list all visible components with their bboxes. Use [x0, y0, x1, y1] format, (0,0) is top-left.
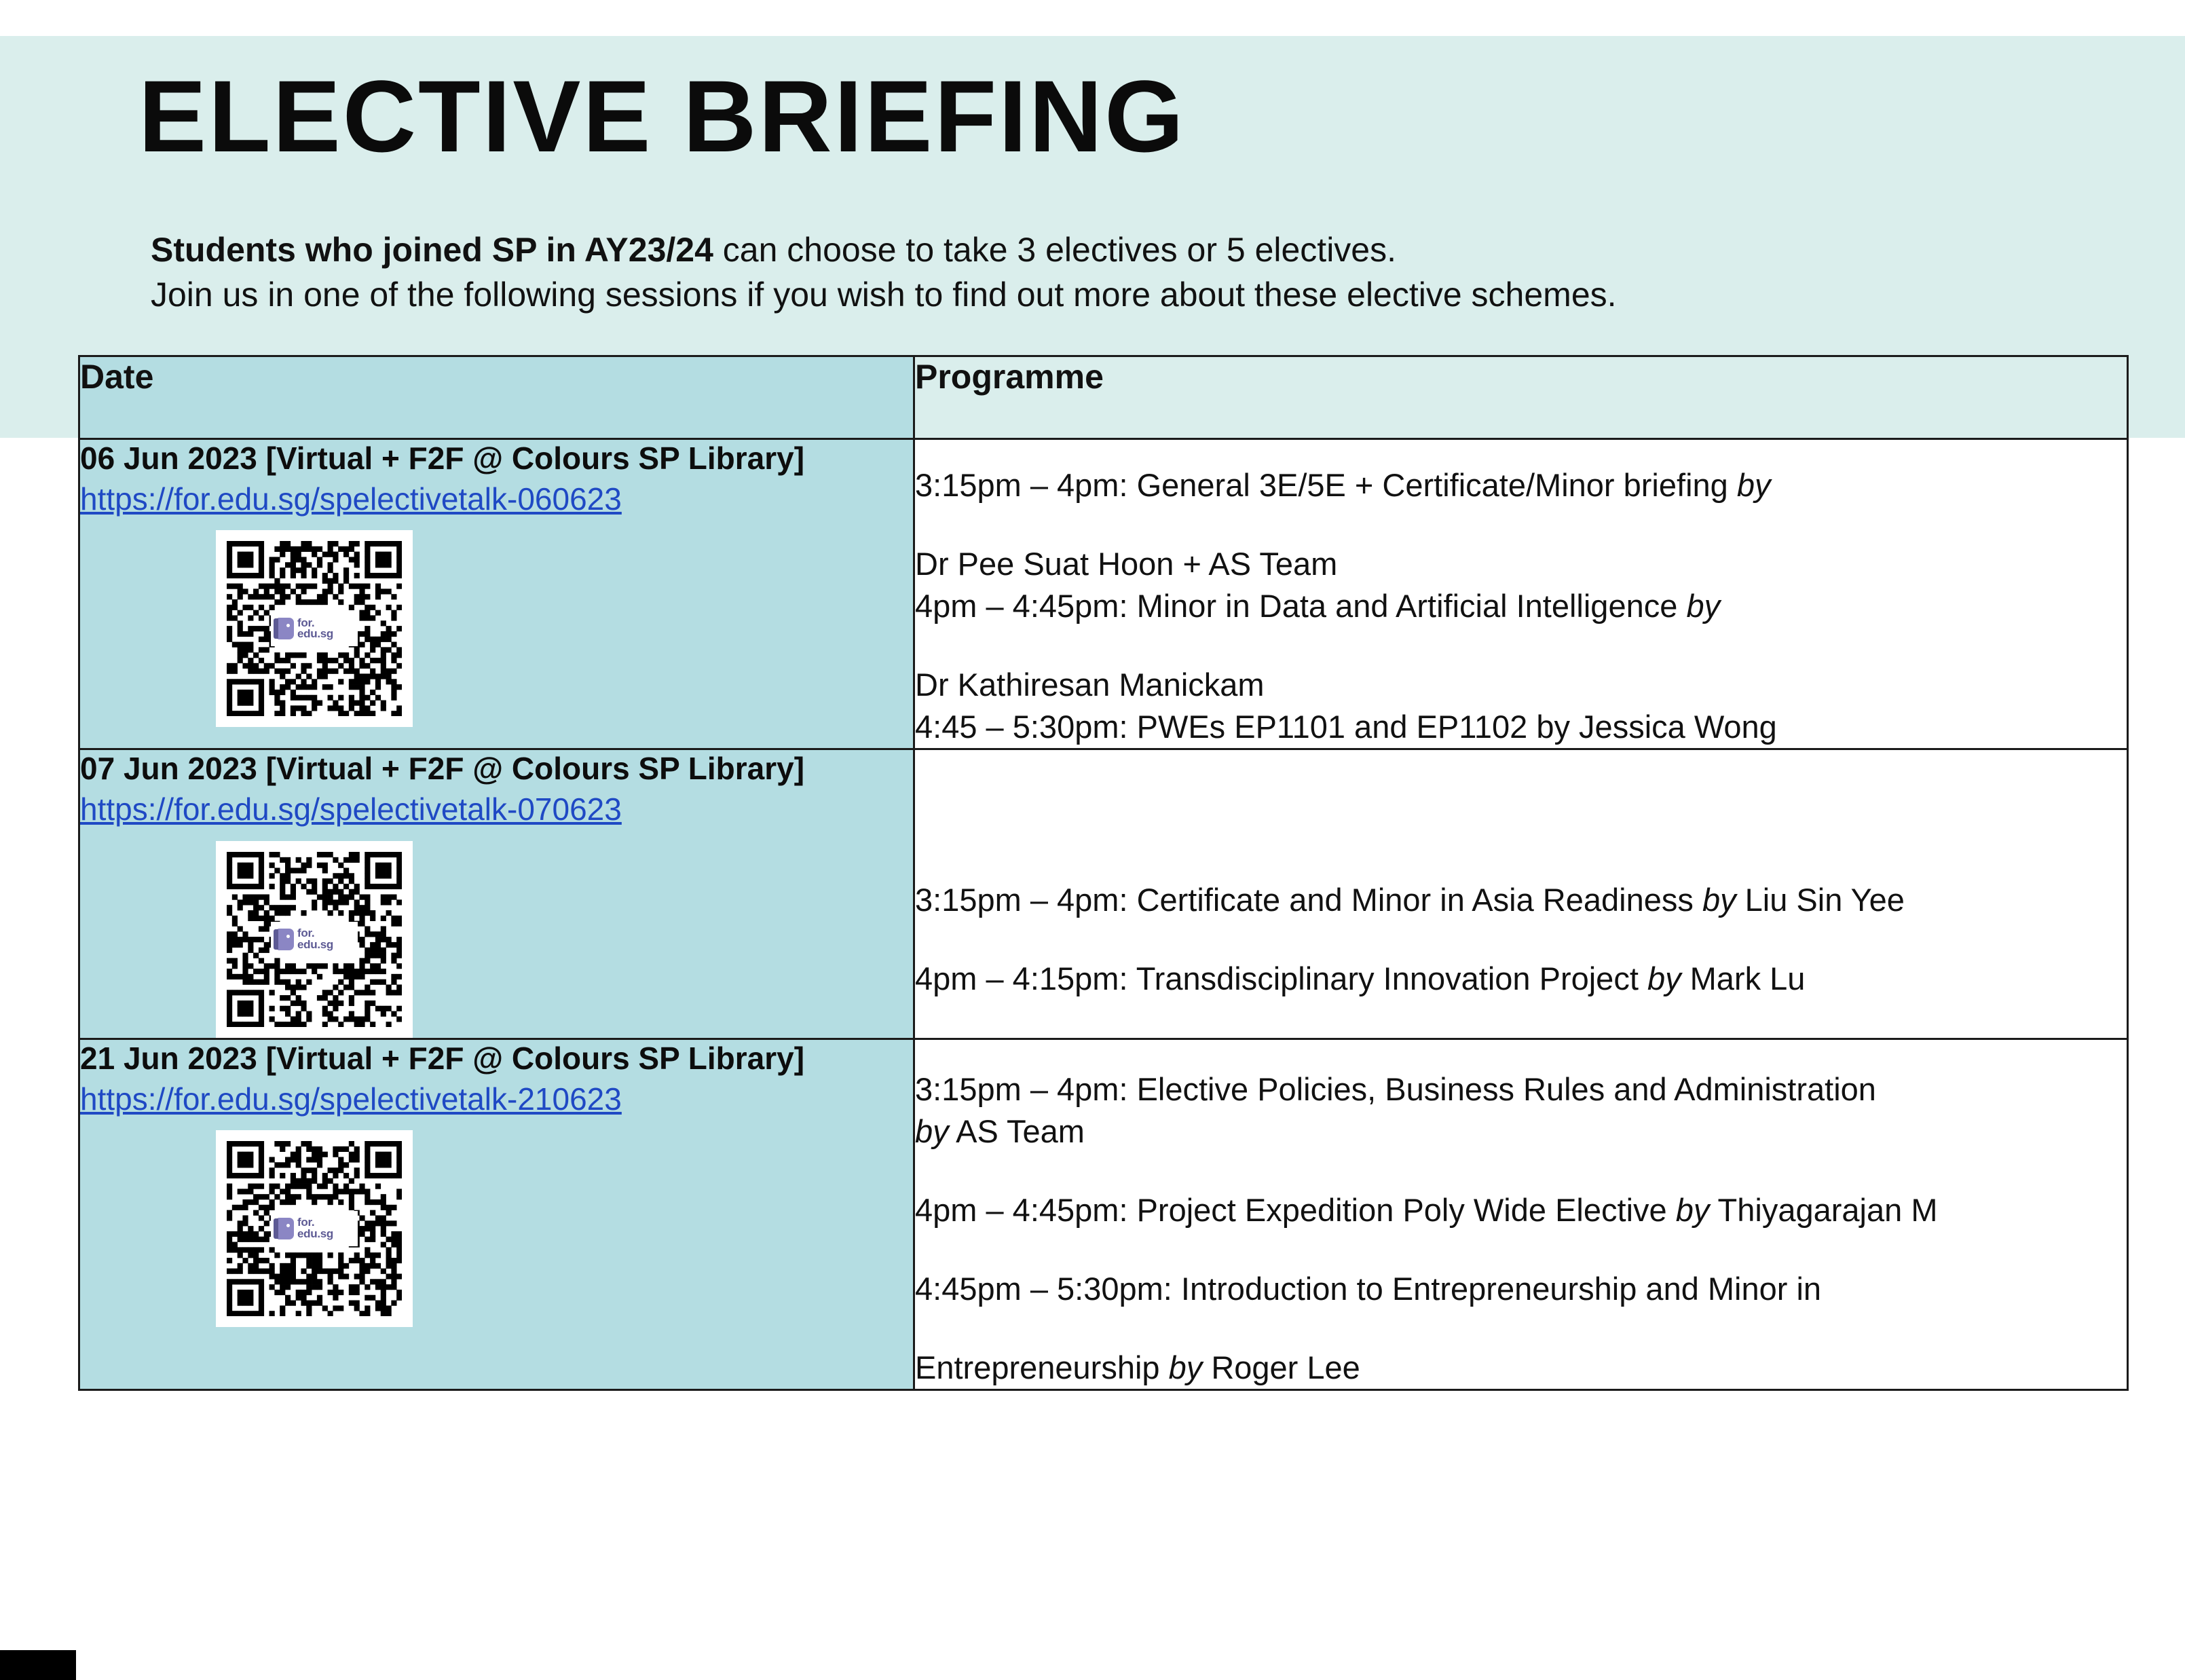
session-registration-link[interactable]: https://for.edu.sg/spelectivetalk-070623: [80, 791, 913, 828]
programme-list: 3:15pm – 4pm: General 3E/5E + Certificat…: [915, 440, 2127, 748]
by-word: by: [1702, 882, 1736, 918]
book-icon: [274, 618, 294, 639]
session-registration-link[interactable]: https://for.edu.sg/spelectivetalk-060623: [80, 481, 913, 518]
for-edu-sg-logo: for.edu.sg: [271, 922, 358, 957]
poster-page: ELECTIVE BRIEFING Students who joined SP…: [0, 0, 2185, 1680]
programme-gap: [915, 1153, 2127, 1189]
book-icon: [274, 1218, 294, 1239]
programme-line: Dr Pee Suat Hoon + AS Team: [915, 543, 2127, 585]
table-body: 06 Jun 2023 [Virtual + F2F @ Colours SP …: [79, 439, 2128, 1390]
table-head: Date Programme: [79, 356, 2128, 439]
table-header-row: Date Programme: [79, 356, 2128, 439]
programme-list: 3:15pm – 4pm: Elective Policies, Busines…: [915, 1040, 2127, 1389]
programme-gap: [915, 921, 2127, 958]
programme-cell: 3:15pm – 4pm: General 3E/5E + Certificat…: [914, 439, 2128, 749]
programme-line: by AS Team: [915, 1110, 2127, 1153]
book-icon: [274, 929, 294, 950]
qr-code[interactable]: for.edu.sg: [216, 530, 413, 727]
qr-logo-label: for.edu.sg: [297, 1217, 333, 1239]
by-word: by: [1676, 1192, 1710, 1228]
intro-rest-part: can choose to take 3 electives or 5 elec…: [713, 231, 1396, 269]
intro-bold-part: Students who joined SP in AY23/24: [151, 231, 713, 269]
programme-line: 4pm – 4:45pm: Project Expedition Poly Wi…: [915, 1189, 2127, 1231]
by-word: by: [1686, 588, 1720, 624]
programme-line: 3:15pm – 4pm: General 3E/5E + Certificat…: [915, 464, 2127, 506]
sessions-table: Date Programme 06 Jun 2023 [Virtual + F2…: [78, 355, 2129, 1391]
session-date-title: 21 Jun 2023 [Virtual + F2F @ Colours SP …: [80, 1040, 913, 1077]
programme-gap: [915, 506, 2127, 543]
date-cell: 06 Jun 2023 [Virtual + F2F @ Colours SP …: [79, 439, 914, 749]
qr-code[interactable]: for.edu.sg: [216, 841, 413, 1038]
programme-line: 3:15pm – 4pm: Certificate and Minor in A…: [915, 879, 2127, 921]
programme-line: Dr Kathiresan Manickam: [915, 664, 2127, 706]
by-word: by: [1169, 1349, 1203, 1385]
programme-line: 4pm – 4:15pm: Transdisciplinary Innovati…: [915, 958, 2127, 1000]
intro-text: Students who joined SP in AY23/24 can ch…: [151, 227, 2051, 317]
programme-gap: [915, 1231, 2127, 1268]
programme-line: 4:45pm – 5:30pm: Introduction to Entrepr…: [915, 1268, 2127, 1310]
session-registration-link[interactable]: https://for.edu.sg/spelectivetalk-210623: [80, 1081, 913, 1118]
qr-logo-label: for.edu.sg: [297, 618, 333, 640]
programme-gap: [915, 1310, 2127, 1347]
programme-line: 3:15pm – 4pm: Elective Policies, Busines…: [915, 1068, 2127, 1110]
table-row: 07 Jun 2023 [Virtual + F2F @ Colours SP …: [79, 749, 2128, 1039]
intro-line-1: Students who joined SP in AY23/24 can ch…: [151, 227, 2051, 272]
for-edu-sg-logo: for.edu.sg: [271, 611, 358, 646]
programme-list: 3:15pm – 4pm: Certificate and Minor in A…: [915, 750, 2127, 1000]
by-word: by: [1737, 467, 1771, 503]
programme-line: 4:45 – 5:30pm: PWEs EP1101 and EP1102 by…: [915, 706, 2127, 748]
intro-line-2: Join us in one of the following sessions…: [151, 272, 2051, 317]
table-row: 21 Jun 2023 [Virtual + F2F @ Colours SP …: [79, 1039, 2128, 1389]
date-cell: 21 Jun 2023 [Virtual + F2F @ Colours SP …: [79, 1039, 914, 1389]
qr-logo-label: for.edu.sg: [297, 928, 333, 950]
programme-cell: 3:15pm – 4pm: Certificate and Minor in A…: [914, 749, 2128, 1039]
table-row: 06 Jun 2023 [Virtual + F2F @ Colours SP …: [79, 439, 2128, 749]
qr-code[interactable]: for.edu.sg: [216, 1130, 413, 1327]
programme-gap: [915, 627, 2127, 664]
programme-line: Entrepreneurship by Roger Lee: [915, 1347, 2127, 1389]
programme-cell: 3:15pm – 4pm: Elective Policies, Busines…: [914, 1039, 2128, 1389]
session-date-title: 07 Jun 2023 [Virtual + F2F @ Colours SP …: [80, 750, 913, 787]
session-date-title: 06 Jun 2023 [Virtual + F2F @ Colours SP …: [80, 440, 913, 477]
by-word: by: [915, 1113, 949, 1149]
corner-accent-block: [0, 1650, 76, 1680]
column-header-programme: Programme: [914, 356, 2128, 439]
column-header-date: Date: [79, 356, 914, 439]
page-title: ELECTIVE BRIEFING: [138, 65, 1186, 167]
date-cell: 07 Jun 2023 [Virtual + F2F @ Colours SP …: [79, 749, 914, 1039]
for-edu-sg-logo: for.edu.sg: [271, 1211, 358, 1246]
by-word: by: [1647, 960, 1681, 996]
programme-line: 4pm – 4:45pm: Minor in Data and Artifici…: [915, 585, 2127, 627]
